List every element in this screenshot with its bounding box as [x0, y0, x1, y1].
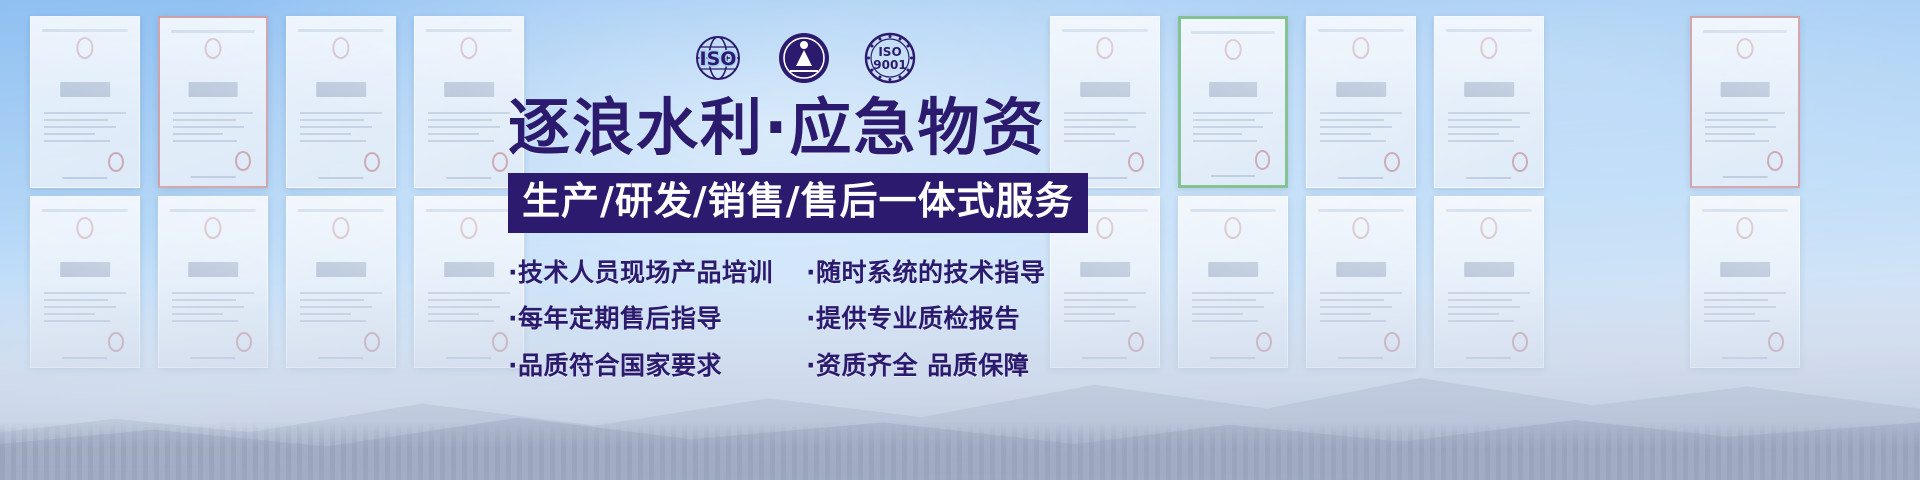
feature-bullet: · [508, 351, 518, 380]
iso-9001-icon: ISO 9001 [862, 30, 918, 86]
certificate-thumbnail [286, 16, 396, 188]
certificate-thumbnail [1178, 16, 1288, 188]
certificate-thumbnail [286, 196, 396, 368]
certificate-thumbnail [158, 16, 268, 188]
feature-list: ·技术人员现场产品培训 ·随时系统的技术指导 ·每年定期售后指导 ·提供专业质检… [508, 259, 1078, 381]
svg-text:9001: 9001 [873, 58, 906, 72]
feature-item: ·技术人员现场产品培训 [508, 259, 788, 288]
iso-globe-icon: ISO [690, 30, 746, 86]
banner-subtitle-bar: 生产/研发/销售/售后一体式服务 [508, 173, 1088, 232]
banner-copy-block: 逐浪水利·应急物资 生产/研发/销售/售后一体式服务 ·技术人员现场产品培训 ·… [508, 96, 1078, 381]
svg-text:ISO: ISO [700, 48, 737, 70]
feature-bullet: · [508, 304, 518, 333]
feature-item: ·随时系统的技术指导 [806, 259, 1046, 288]
feature-text: 提供专业质检报告 [816, 304, 1020, 333]
feature-bullet: · [806, 258, 816, 287]
certificate-thumbnail [1434, 16, 1544, 188]
certificate-thumbnail [1178, 196, 1288, 368]
feature-text: 随时系统的技术指导 [816, 258, 1046, 287]
certificate-thumbnail [158, 196, 268, 368]
feature-text: 资质齐全 品质保障 [816, 351, 1029, 380]
certificate-thumbnail [1690, 16, 1800, 188]
banner-headline: 逐浪水利·应急物资 [508, 96, 1078, 159]
feature-item: ·资质齐全 品质保障 [806, 352, 1046, 381]
feature-bullet: · [806, 351, 816, 380]
feature-bullet: · [806, 304, 816, 333]
feature-text: 品质符合国家要求 [518, 351, 722, 380]
certification-badge-row: ISO [690, 30, 918, 86]
feature-item: ·品质符合国家要求 [508, 352, 788, 381]
svg-text:ISO: ISO [878, 45, 901, 59]
certificate-thumbnail [30, 16, 140, 188]
feature-item: ·提供专业质检报告 [806, 305, 1046, 334]
promo-banner: ISO [0, 0, 1920, 480]
feature-text: 技术人员现场产品培训 [518, 258, 773, 287]
quality-seal-icon [776, 30, 832, 86]
feature-text: 每年定期售后指导 [518, 304, 722, 333]
certificate-thumbnail [30, 196, 140, 368]
certificate-thumbnail [1306, 16, 1416, 188]
certificate-thumbnail [1690, 196, 1800, 368]
certificate-thumbnail [1434, 196, 1544, 368]
feature-bullet: · [508, 258, 518, 287]
feature-item: ·每年定期售后指导 [508, 305, 788, 334]
certificate-thumbnail [1306, 196, 1416, 368]
